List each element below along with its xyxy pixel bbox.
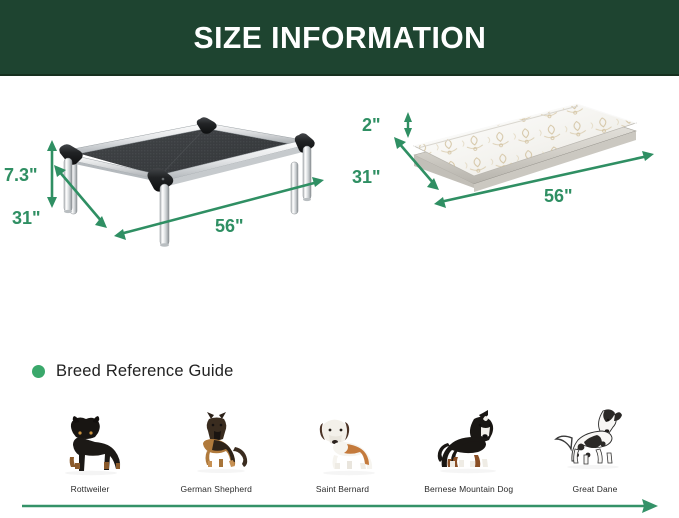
breed-label: Bernese Mountain Dog [424,484,513,494]
bullet-dot-icon [32,365,45,378]
rottweiler-image [51,409,129,479]
breed-label: German Shepherd [181,484,252,494]
product-mattress-pad: 2" 31" 56" [348,84,679,314]
elevated-cot-illustration: 7.3" 31" 56" [0,84,348,314]
german-shepherd-image [181,409,251,479]
breed-list: Rottweiler [30,398,655,494]
mattress-pad-illustration: 2" 31" 56" [348,84,679,314]
header-banner: SIZE INFORMATION [0,0,679,76]
product-diagrams: 7.3" 31" 56" [0,84,679,314]
breed-item-german-shepherd: German Shepherd [156,409,276,494]
dimension-height [47,140,57,208]
size-progression-arrow [22,498,662,514]
breed-item-great-dane: Great Dane [535,409,655,494]
saint-bernard-image [303,409,383,479]
breed-label: Rottweiler [71,484,110,494]
header-divider [0,74,679,76]
breed-guide-title: Breed Reference Guide [56,362,234,381]
product-elevated-cot: 7.3" 31" 56" [0,84,348,314]
dimension-depth [54,165,107,228]
breed-label: Great Dane [573,484,618,494]
dimension-width-label: 56" [544,186,573,206]
dimension-depth-label: 31" [352,167,381,187]
dimension-thickness [404,112,412,138]
dimension-width-label: 56" [215,216,244,236]
breed-reference-section: Breed Reference Guide [0,350,679,518]
breed-item-bernese-mountain-dog: Bernese Mountain Dog [409,409,529,494]
breed-guide-heading: Breed Reference Guide [32,362,234,381]
bernese-mountain-dog-image [426,409,512,479]
great-dane-image [553,409,637,479]
dimension-height-label: 7.3" [4,165,38,185]
breed-item-saint-bernard: Saint Bernard [283,409,403,494]
page-title: SIZE INFORMATION [193,20,486,56]
dimension-depth-label: 31" [12,208,41,228]
breed-label: Saint Bernard [316,484,369,494]
breed-item-rottweiler: Rottweiler [30,409,150,494]
dimension-thickness-label: 2" [362,115,381,135]
size-information-infographic: SIZE INFORMATION [0,0,679,518]
